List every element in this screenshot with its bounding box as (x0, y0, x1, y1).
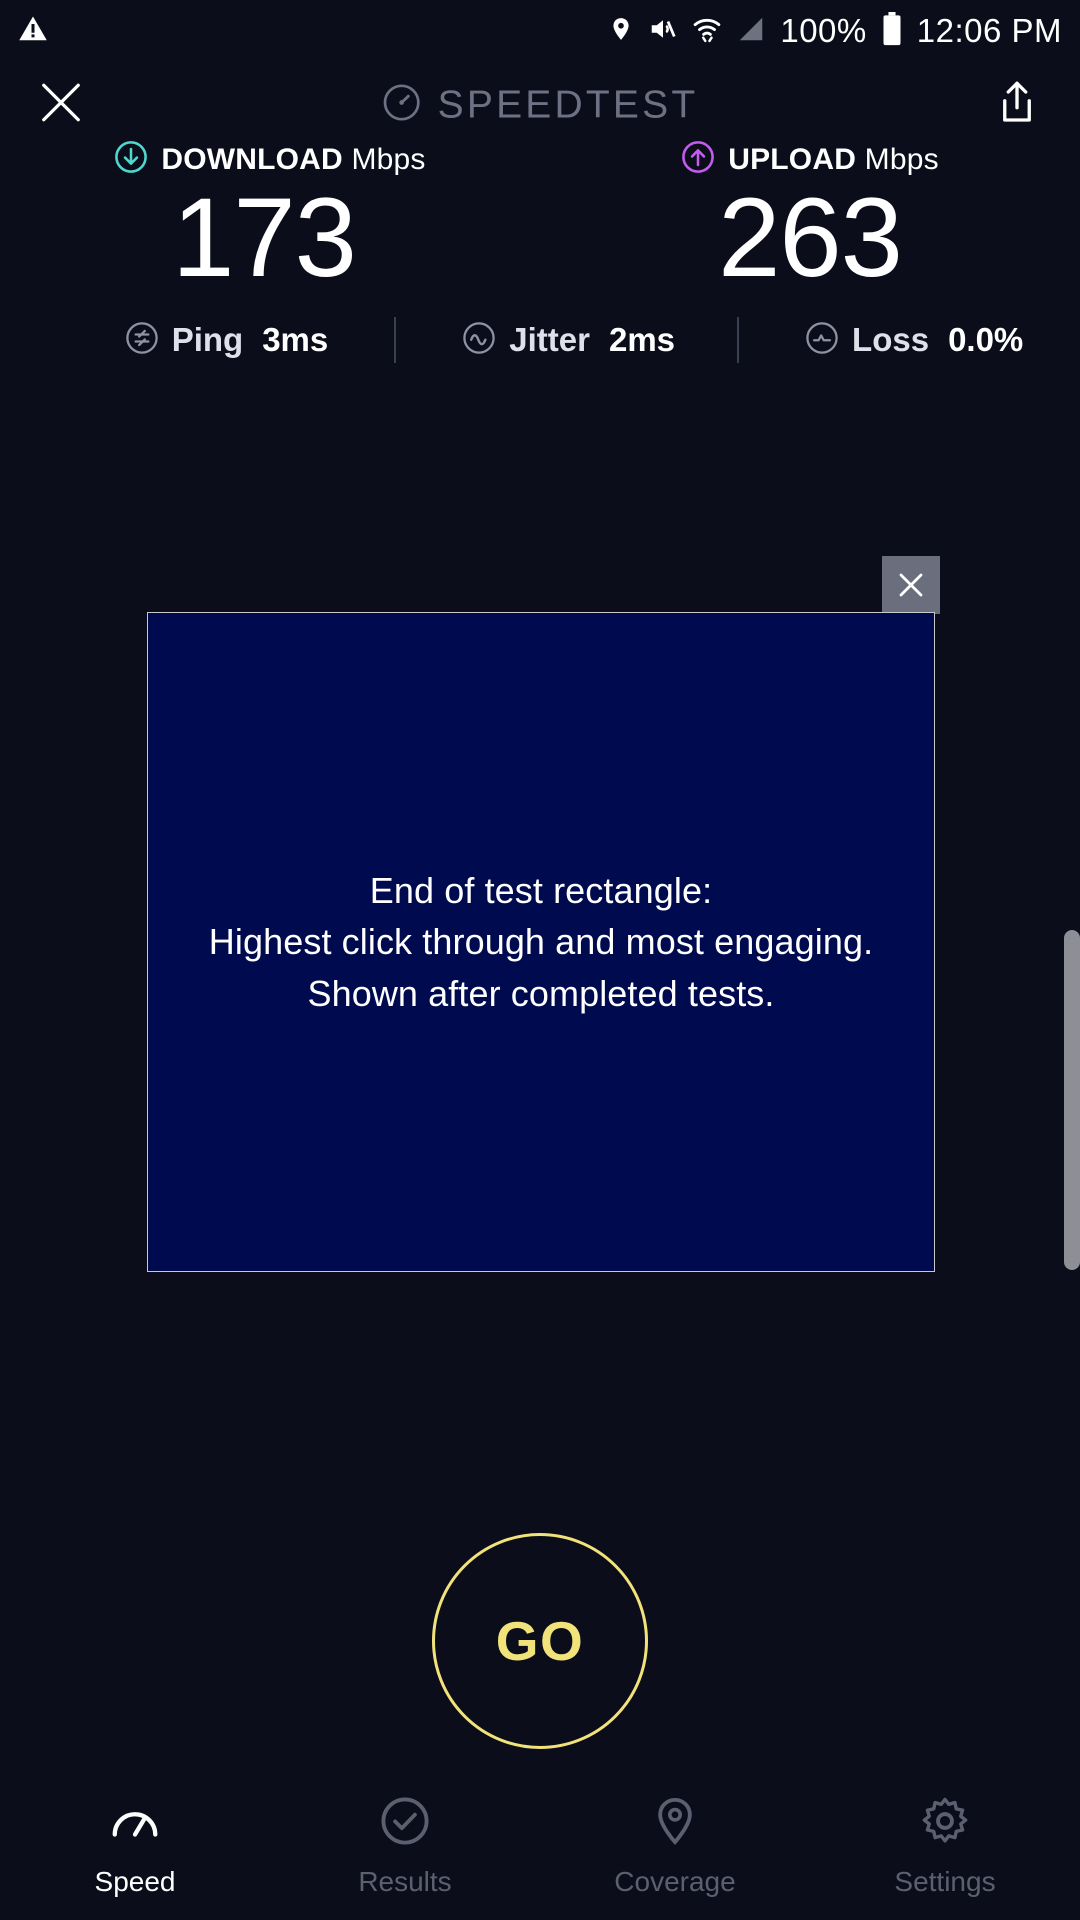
battery-full-icon (881, 12, 903, 51)
bottom-navigation: Speed Results Coverage (0, 1772, 1080, 1920)
jitter-icon (462, 321, 496, 360)
download-upload-row: DOWNLOAD Mbps 173 UPLOAD Mbps 263 (0, 140, 1080, 295)
wifi-icon (692, 14, 722, 49)
ad-close-icon[interactable] (882, 556, 940, 614)
nav-item-settings[interactable]: Settings (810, 1794, 1080, 1898)
status-bar-right: 100% 12:06 PM (608, 12, 1062, 51)
jitter-value: 2ms (609, 321, 675, 359)
jitter-label: Jitter (509, 321, 590, 359)
close-icon[interactable] (38, 80, 84, 131)
page-title: SPEEDTEST (438, 83, 699, 127)
ad-line-1: End of test rectangle: (209, 865, 873, 916)
download-header: DOWNLOAD Mbps (114, 140, 425, 179)
cellular-signal-icon (736, 14, 766, 49)
ping-value: 3ms (262, 321, 328, 359)
upload-arrow-icon (681, 140, 715, 179)
nav-label-results: Results (358, 1866, 451, 1898)
nav-label-settings: Settings (894, 1866, 995, 1898)
upload-label: UPLOAD Mbps (728, 143, 939, 177)
map-pin-icon (648, 1794, 702, 1853)
loss-label: Loss (852, 321, 929, 359)
ping-label: Ping (172, 321, 244, 359)
results-section: DOWNLOAD Mbps 173 UPLOAD Mbps 263 (0, 140, 1080, 363)
mute-icon (648, 14, 678, 49)
speedometer-icon (108, 1794, 162, 1853)
share-icon[interactable] (996, 80, 1038, 131)
divider-1 (394, 317, 396, 363)
ping-metric: Ping 3ms (125, 321, 329, 360)
app-bar: SPEEDTEST (0, 62, 1080, 148)
loss-value: 0.0% (948, 321, 1023, 359)
ping-icon (125, 321, 159, 360)
loss-metric: Loss 0.0% (805, 321, 1023, 360)
nav-label-speed: Speed (95, 1866, 176, 1898)
status-bar-left (18, 14, 48, 49)
download-label: DOWNLOAD Mbps (161, 143, 425, 177)
speedtest-gauge-icon (382, 83, 422, 128)
location-pin-icon (608, 14, 634, 49)
nav-item-speed[interactable]: Speed (0, 1794, 270, 1898)
nav-label-coverage: Coverage (614, 1866, 735, 1898)
download-metric: DOWNLOAD Mbps 173 (0, 140, 540, 295)
ad-text: End of test rectangle: Highest click thr… (209, 865, 873, 1018)
gear-icon (918, 1794, 972, 1853)
battery-percent-label: 100% (780, 12, 866, 50)
download-arrow-icon (114, 140, 148, 179)
status-bar: 100% 12:06 PM (0, 0, 1080, 62)
ad-line-2: Highest click through and most engaging. (209, 916, 873, 967)
loss-icon (805, 321, 839, 360)
download-value: 173 (172, 181, 356, 295)
nav-item-coverage[interactable]: Coverage (540, 1794, 810, 1898)
check-circle-icon (378, 1794, 432, 1853)
upload-value: 263 (718, 181, 902, 295)
go-button[interactable]: GO (432, 1533, 648, 1749)
ad-line-3: Shown after completed tests. (209, 968, 873, 1019)
go-button-label: GO (496, 1609, 585, 1673)
status-bar-clock: 12:06 PM (917, 12, 1062, 50)
upload-header: UPLOAD Mbps (681, 140, 939, 179)
jitter-metric: Jitter 2ms (462, 321, 675, 360)
app-title-group: SPEEDTEST (382, 83, 699, 128)
divider-2 (737, 317, 739, 363)
speedtest-app-screen: 100% 12:06 PM SPEEDTEST (0, 0, 1080, 1920)
warning-triangle-icon (18, 14, 48, 49)
scrollbar[interactable] (1064, 930, 1080, 1270)
upload-metric: UPLOAD Mbps 263 (540, 140, 1080, 295)
substats-row: Ping 3ms Jitter 2ms (0, 317, 1080, 363)
advertisement-banner[interactable]: End of test rectangle: Highest click thr… (147, 612, 935, 1272)
nav-item-results[interactable]: Results (270, 1794, 540, 1898)
